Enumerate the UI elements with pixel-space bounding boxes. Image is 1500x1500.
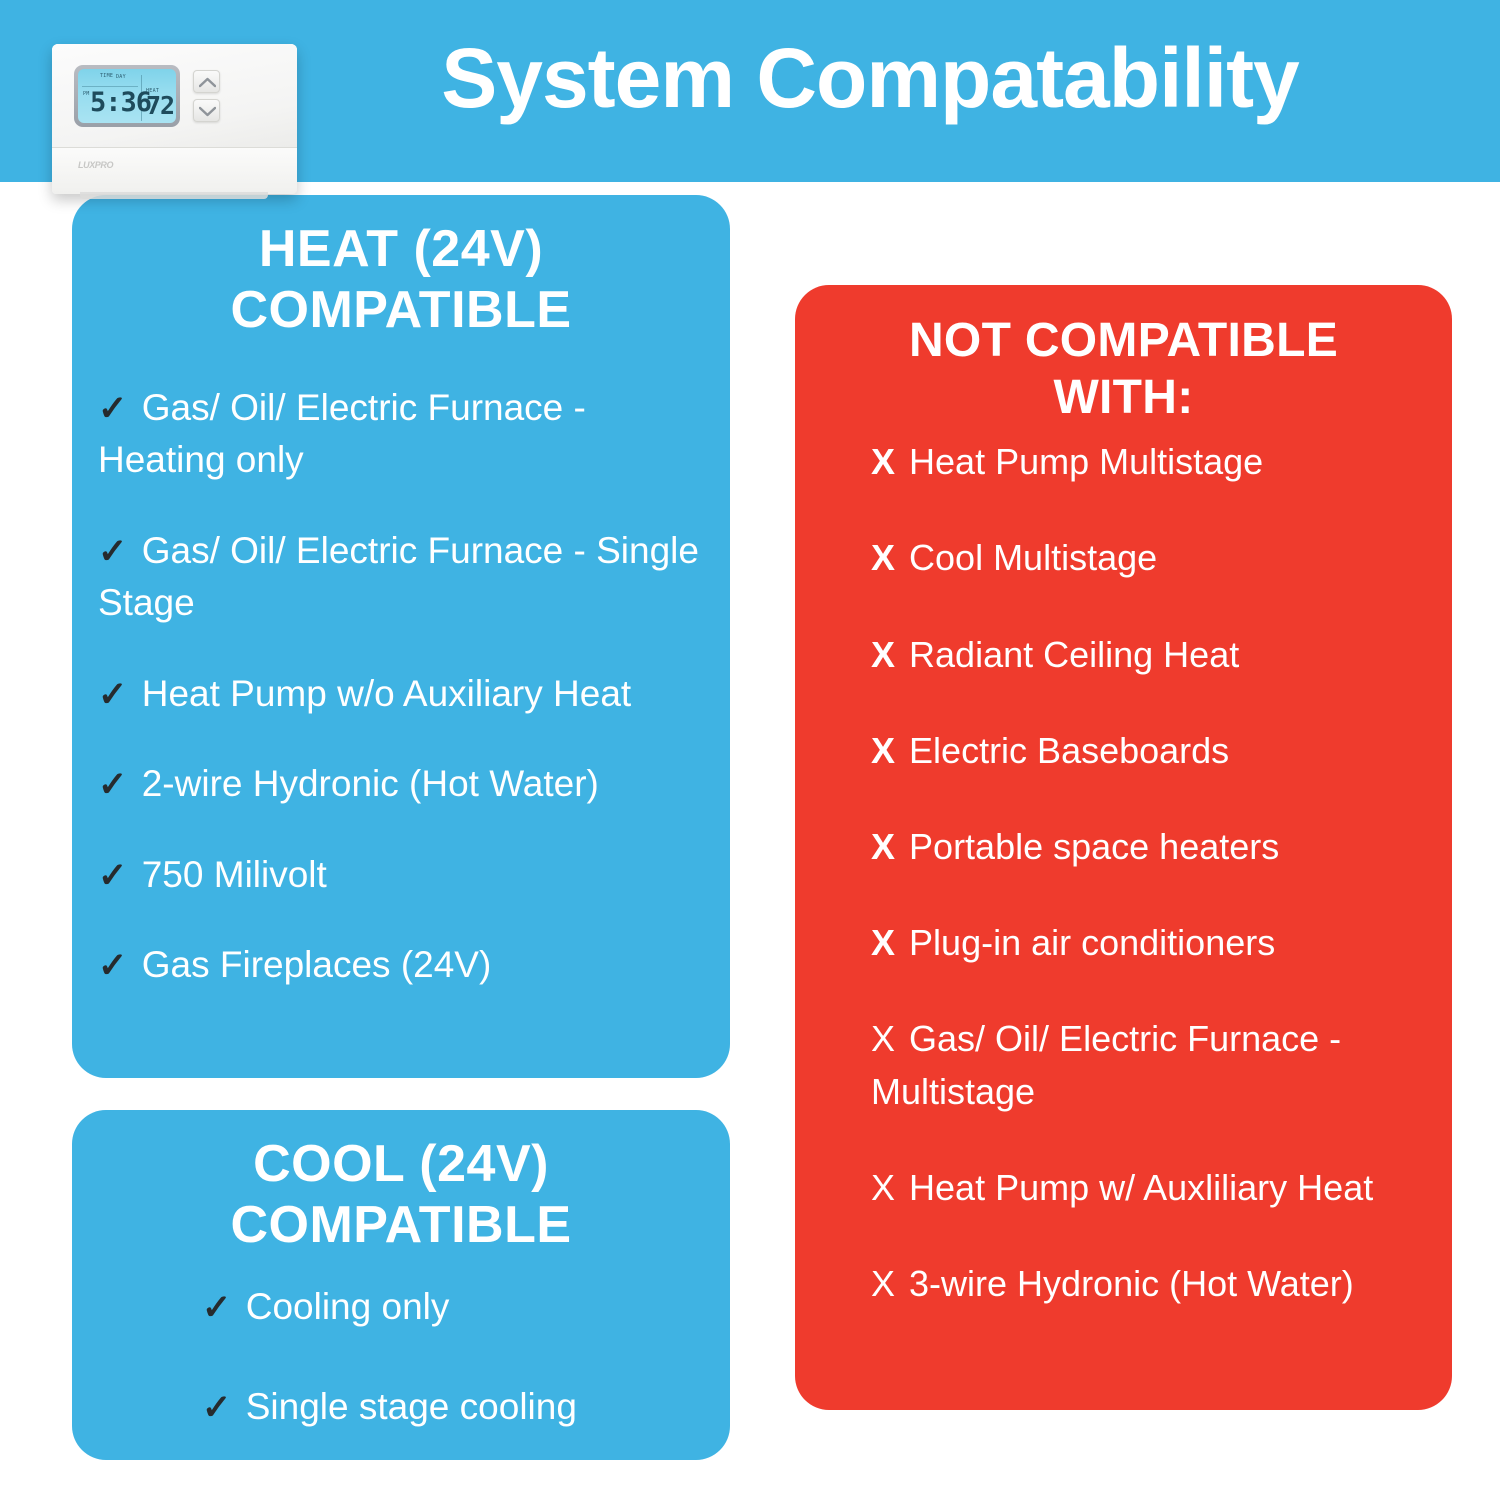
lcd-label-time: TIME (100, 73, 113, 79)
check-icon: ✓ (98, 532, 127, 571)
x-icon: X (871, 826, 895, 867)
list-item-label: Gas/ Oil/ Electric Furnace - Heating onl… (98, 387, 586, 481)
heat-list-item: ✓ 750 Milivolt (98, 849, 708, 902)
thermostat-image: TIME DAY PM HEAT 5:36 72 LUXPRO (52, 44, 297, 202)
heat-list-item: ✓ Gas/ Oil/ Electric Furnace - Single St… (98, 525, 708, 630)
check-icon: ✓ (98, 946, 127, 985)
heat-list-item: ✓ 2-wire Hydronic (Hot Water) (98, 758, 708, 811)
list-item-label: 750 Milivolt (142, 854, 327, 895)
brand-label: LUXPRO (78, 160, 113, 170)
list-item-label: Portable space heaters (909, 826, 1279, 867)
check-icon: ✓ (202, 1288, 231, 1327)
x-icon: X (871, 730, 895, 771)
not-compatible-list-item: X Heat Pump Multistage (871, 436, 1428, 488)
check-icon: ✓ (98, 856, 127, 895)
heat-list-item: ✓ Gas/ Oil/ Electric Furnace - Heating o… (98, 382, 708, 487)
check-icon: ✓ (98, 675, 127, 714)
infographic-root: System Compatability TIME DAY PM HEAT 5:… (0, 0, 1500, 1500)
not-compatible-list-item: X Radiant Ceiling Heat (871, 629, 1428, 681)
not-compatible-panel: NOT COMPATIBLE WITH: X Heat Pump Multist… (795, 285, 1452, 1410)
thermostat-lower-housing (52, 148, 297, 194)
list-item-label: 2-wire Hydronic (Hot Water) (142, 763, 599, 804)
x-icon: X (871, 537, 895, 578)
not-compatible-list-item: X Heat Pump w/ Auxliliary Heat (871, 1162, 1428, 1214)
not-compatible-list-item: X Gas/ Oil/ Electric Furnace - Multistag… (871, 1013, 1428, 1117)
lcd-meridiem: PM (83, 91, 90, 97)
check-icon: ✓ (98, 765, 127, 804)
down-arrow-icon[interactable] (193, 99, 220, 122)
heat-list-item: ✓ Heat Pump w/o Auxiliary Heat (98, 668, 708, 721)
not-compatible-list-item: X Electric Baseboards (871, 725, 1428, 777)
up-arrow-icon[interactable] (193, 70, 220, 93)
cool-compatible-panel: COOL (24V) COMPATIBLE ✓ Cooling only✓ Si… (72, 1110, 730, 1460)
heat-list-item: ✓ Gas Fireplaces (24V) (98, 939, 708, 992)
x-icon: X (871, 634, 895, 675)
lcd-time-value: 5:36 (90, 89, 151, 116)
not-compatible-list-item: X Plug-in air conditioners (871, 917, 1428, 969)
list-item-label: Heat Pump w/ Auxliliary Heat (909, 1167, 1373, 1208)
not-compatible-list-item: X 3-wire Hydronic (Hot Water) (871, 1258, 1428, 1310)
lcd-temperature-value: 72 (146, 93, 174, 118)
check-icon: ✓ (98, 389, 127, 428)
x-icon: X (871, 922, 895, 963)
lcd-screen: TIME DAY PM HEAT 5:36 72 (78, 69, 176, 123)
x-icon: X (871, 441, 895, 482)
x-icon: X (871, 1018, 895, 1059)
list-item-label: Cool Multistage (909, 537, 1157, 578)
list-item-label: 3-wire Hydronic (Hot Water) (909, 1263, 1354, 1304)
x-icon: X (871, 1167, 895, 1208)
x-icon: X (871, 1263, 895, 1304)
cool-list-item: ✓ Single stage cooling (202, 1381, 708, 1434)
list-item-label: Gas/ Oil/ Electric Furnace - Multistage (871, 1018, 1341, 1111)
lcd-bezel: TIME DAY PM HEAT 5:36 72 (74, 65, 180, 127)
lcd-label-day: DAY (116, 74, 126, 80)
list-item-label: Gas Fireplaces (24V) (142, 944, 492, 985)
list-item-label: Gas/ Oil/ Electric Furnace - Single Stag… (98, 530, 699, 624)
cool-list-item: ✓ Cooling only (202, 1281, 708, 1334)
heat-panel-title: HEAT (24V) COMPATIBLE (72, 195, 730, 342)
list-item-label: Electric Baseboards (909, 730, 1229, 771)
heat-compatible-list: ✓ Gas/ Oil/ Electric Furnace - Heating o… (72, 342, 730, 992)
list-item-label: Plug-in air conditioners (909, 922, 1275, 963)
list-item-label: Heat Pump w/o Auxiliary Heat (142, 673, 631, 714)
list-item-label: Single stage cooling (246, 1386, 577, 1427)
list-item-label: Heat Pump Multistage (909, 441, 1263, 482)
page-title: System Compatability (320, 34, 1420, 122)
list-item-label: Radiant Ceiling Heat (909, 634, 1239, 675)
not-compatible-panel-title: NOT COMPATIBLE WITH: (795, 285, 1452, 426)
not-compatible-list-item: X Portable space heaters (871, 821, 1428, 873)
cool-compatible-list: ✓ Cooling only✓ Single stage cooling (72, 1257, 730, 1434)
not-compatible-list-item: X Cool Multistage (871, 532, 1428, 584)
check-icon: ✓ (202, 1388, 231, 1427)
thermostat-base (80, 192, 268, 199)
list-item-label: Cooling only (246, 1286, 450, 1327)
not-compatible-list: X Heat Pump MultistageX Cool MultistageX… (795, 426, 1452, 1310)
cool-panel-title: COOL (24V) COMPATIBLE (72, 1110, 730, 1257)
heat-compatible-panel: HEAT (24V) COMPATIBLE ✓ Gas/ Oil/ Electr… (72, 195, 730, 1078)
